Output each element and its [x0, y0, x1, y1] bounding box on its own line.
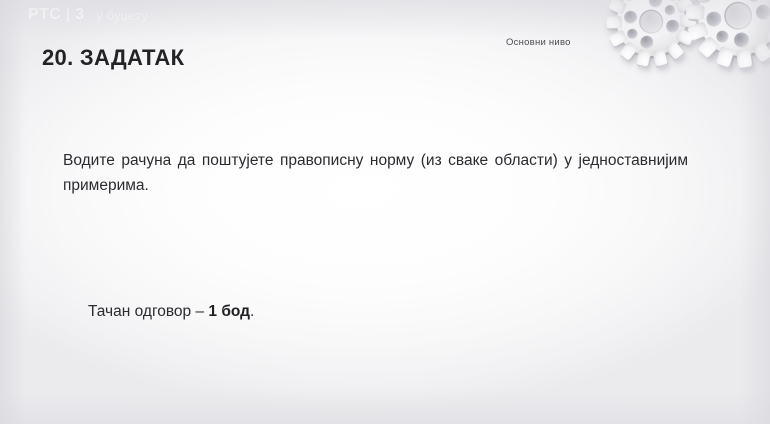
- answer-prefix: Тачан одговор –: [88, 303, 208, 320]
- watermark-separator-bar: [67, 8, 69, 22]
- watermark-subtitle: у буџету: [96, 8, 148, 23]
- broadcaster-watermark: РТС 3 у буџету: [28, 6, 148, 24]
- page-title: 20. ЗАДАТАК: [42, 45, 184, 71]
- slide-canvas: РТС 3 у буџету Основни ниво 20. ЗАДАТАК …: [0, 0, 770, 424]
- level-label: Основни ниво: [506, 37, 571, 48]
- watermark-channel: РТС: [28, 6, 61, 24]
- gears-icon: [590, 0, 770, 116]
- task-text: Водите рачуна да поштујете правописну но…: [63, 148, 688, 198]
- answer-suffix: .: [250, 303, 254, 320]
- answer-line: Тачан одговор – 1 бод.: [88, 303, 254, 321]
- answer-points: 1 бод: [208, 303, 250, 320]
- watermark-channel-number: 3: [75, 6, 84, 24]
